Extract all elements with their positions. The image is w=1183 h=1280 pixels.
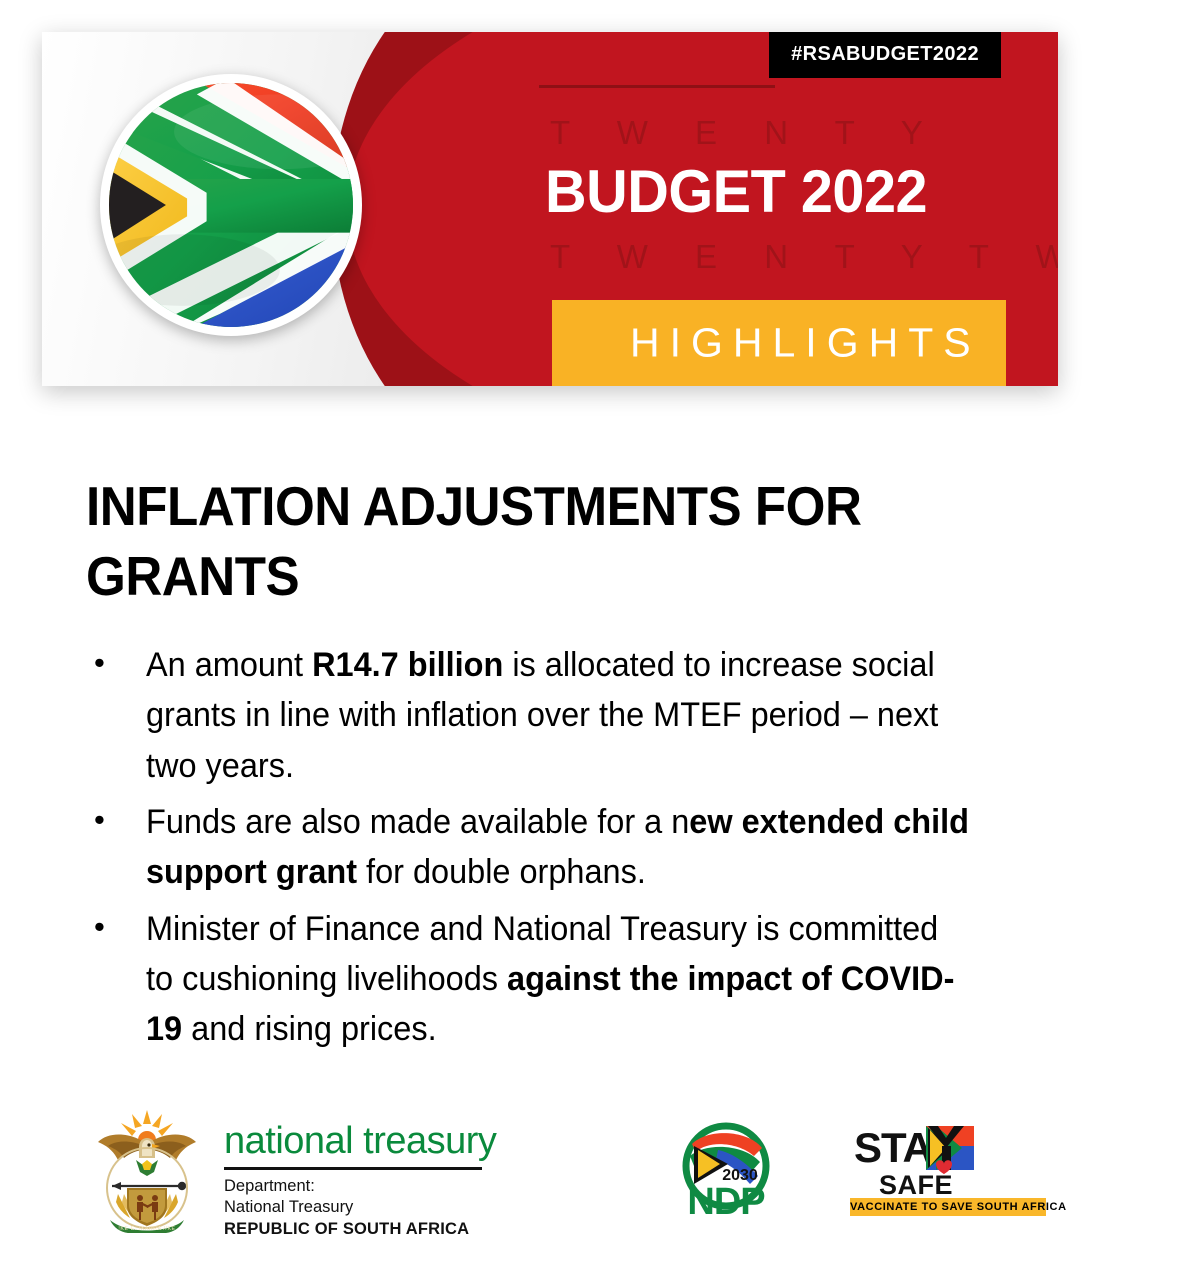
stay-word: STA	[854, 1124, 933, 1171]
national-treasury-rule	[224, 1167, 482, 1170]
list-item: •An amount R14.7 billion is allocated to…	[80, 640, 1010, 791]
banner-title: BUDGET 2022	[545, 157, 927, 226]
banner-divider-line	[539, 85, 775, 88]
bullet-marker-icon: •	[80, 797, 146, 843]
budget-banner: #RSABUDGET2022 T W E N T Y BUDGET 2022 T…	[42, 32, 1058, 386]
national-treasury-title: national treasury	[224, 1122, 496, 1160]
national-treasury-line1: Department:	[224, 1176, 496, 1197]
hashtag-badge: #RSABUDGET2022	[769, 32, 1001, 78]
list-item: •Minister of Finance and National Treasu…	[80, 904, 1010, 1055]
list-item-text: Minister of Finance and National Treasur…	[146, 904, 971, 1055]
highlights-band: HIGHLIGHTS	[552, 300, 1006, 386]
national-treasury-logo: !KE E: /XARRA //KE national treasury Dep…	[88, 1102, 496, 1240]
highlights-label: HIGHLIGHTS	[630, 320, 981, 367]
page-title: INFLATION ADJUSTMENTS FOR GRANTS	[86, 472, 923, 612]
ghost-text-twenty: T W E N T Y	[550, 114, 942, 152]
stay-safe-tagline: VACCINATE TO SAVE SOUTH AFRICA	[850, 1198, 1046, 1216]
bullet-marker-icon: •	[80, 640, 146, 686]
bullet-marker-icon: •	[80, 904, 146, 950]
stay-safe-logo: STA SAFE VACCINATE TO SAVE SOUTH A	[850, 1120, 1046, 1220]
ndp-label: NDP	[687, 1181, 765, 1218]
ndp-icon: 2030 NDP	[668, 1122, 788, 1218]
national-treasury-line3: REPUBLIC OF SOUTH AFRICA	[224, 1219, 496, 1240]
bullet-list: •An amount R14.7 billion is allocated to…	[80, 640, 1010, 1061]
national-treasury-line2: National Treasury	[224, 1197, 496, 1218]
list-item-text: Funds are also made available for a new …	[146, 797, 971, 898]
list-item: •Funds are also made available for a new…	[80, 797, 1010, 898]
south-african-flag-roundel	[100, 74, 362, 336]
coat-of-arms-icon: !KE E: /XARRA //KE	[88, 1102, 206, 1234]
ghost-text-twenty-two: T W E N T Y T W O	[550, 238, 1058, 276]
stay-safe-icon: STA SAFE	[850, 1120, 1046, 1198]
flag-icon	[109, 83, 353, 327]
safe-word: SAFE	[879, 1170, 953, 1198]
footer-logos: !KE E: /XARRA //KE national treasury Dep…	[0, 1094, 1183, 1254]
ndp-logo: 2030 NDP	[668, 1122, 788, 1218]
list-item-text: An amount R14.7 billion is allocated to …	[146, 640, 971, 791]
svg-text:!KE E: /XARRA //KE: !KE E: /XARRA //KE	[118, 1226, 175, 1232]
